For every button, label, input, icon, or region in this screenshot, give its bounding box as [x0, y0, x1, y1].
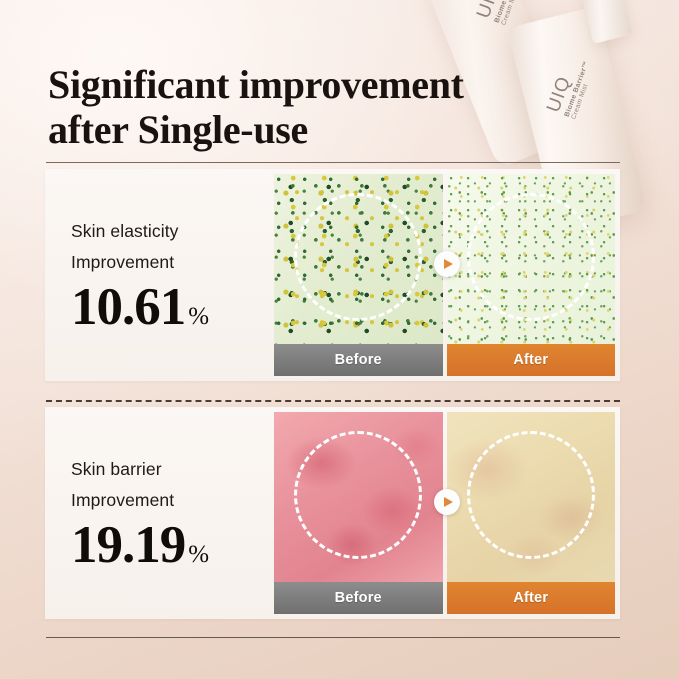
- metric-value-row: 10.61 %: [71, 281, 274, 334]
- after-label-bar: After: [447, 582, 616, 614]
- metric-title-line-1: Skin barrier: [71, 454, 274, 484]
- triangle-right-icon: [444, 259, 453, 269]
- metric-unit: %: [188, 542, 209, 567]
- result-card-elasticity: Skin elasticity Improvement 10.61 % Befo…: [45, 169, 620, 381]
- divider-middle-dashed: [46, 400, 620, 402]
- before-after-pair: Before After: [274, 169, 620, 381]
- triangle-right-icon: [444, 497, 453, 507]
- bottle-product-name: Biome Barrier™: [494, 0, 521, 24]
- skin-image-before: [274, 412, 443, 582]
- skin-image-after: [447, 174, 616, 344]
- focus-circle-overlay: [294, 193, 422, 321]
- bottle-product-variant-2: Cream Mist: [570, 63, 597, 121]
- metric-value: 10.61: [71, 281, 185, 334]
- bottle-cap: [578, 0, 633, 44]
- before-after-pair: Before After: [274, 407, 620, 619]
- metric-title-line-1: Skin elasticity: [71, 216, 274, 246]
- bottle-label-back: UIQ Biome Barrier™ Cream Mist: [473, 0, 527, 26]
- metric-unit: %: [188, 304, 209, 329]
- metric-text-block: Skin barrier Improvement 19.19 %: [45, 407, 274, 619]
- before-shot: Before: [274, 412, 443, 614]
- after-label-bar: After: [447, 344, 616, 376]
- metric-title-line-2: Improvement: [71, 247, 274, 277]
- metric-value: 19.19: [71, 519, 185, 572]
- focus-circle-overlay: [467, 193, 595, 321]
- skin-image-before: [274, 174, 443, 344]
- before-label-bar: Before: [274, 344, 443, 376]
- headline-line-1: Significant improvement: [48, 63, 568, 108]
- before-shot: Before: [274, 174, 443, 376]
- infographic-page: UIQ Biome Barrier™ Cream Mist UIQ Biome …: [0, 0, 679, 679]
- result-card-barrier: Skin barrier Improvement 19.19 % Before …: [45, 407, 620, 619]
- metric-value-row: 19.19 %: [71, 519, 274, 572]
- metric-text-block: Skin elasticity Improvement 10.61 %: [45, 169, 274, 381]
- bottle-product-variant: Cream Mist: [500, 0, 527, 26]
- metric-title-line-2: Improvement: [71, 485, 274, 515]
- skin-image-after: [447, 412, 616, 582]
- focus-circle-overlay: [467, 431, 595, 559]
- after-shot: After: [447, 174, 616, 376]
- divider-bottom: [46, 637, 620, 638]
- before-label-bar: Before: [274, 582, 443, 614]
- divider-top: [46, 162, 620, 163]
- focus-circle-overlay: [294, 431, 422, 559]
- after-shot: After: [447, 412, 616, 614]
- headline-line-2: after Single-use: [48, 108, 568, 153]
- page-title: Significant improvement after Single-use: [48, 63, 568, 153]
- bottle-brand-text: UIQ: [473, 0, 514, 22]
